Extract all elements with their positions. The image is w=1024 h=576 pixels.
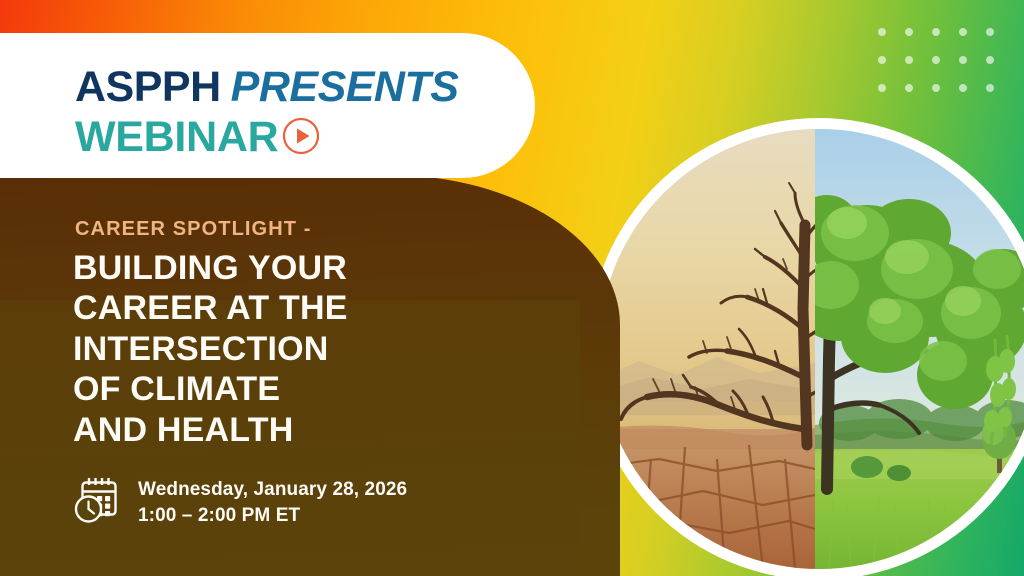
calendar-clock-icon: [70, 474, 122, 531]
title-line: BUILDING YOUR: [73, 248, 503, 288]
play-circle-icon[interactable]: [281, 116, 321, 160]
brand-logo: ASPPHPRESENTS WEBINAR: [75, 66, 458, 160]
photo-ring: [588, 118, 1024, 576]
climate-split-tree-photo: [599, 129, 1024, 569]
dot-grid-icon: [878, 28, 1013, 112]
title-line: OF CLIMATE: [73, 369, 503, 409]
webinar-promo-poster: ASPPHPRESENTS WEBINAR CAREER SPOTLIGHT -…: [0, 0, 1024, 576]
event-time: 1:00 – 2:00 PM ET: [138, 503, 407, 528]
brand-line-2: WEBINAR: [75, 114, 458, 160]
eyebrow-label: CAREER SPOTLIGHT -: [75, 218, 311, 241]
page-title: BUILDING YOUR CAREER AT THE INTERSECTION…: [73, 248, 503, 450]
brand-presents: PRESENTS: [231, 63, 459, 111]
title-line: AND HEALTH: [73, 410, 503, 450]
brand-aspph: ASPPH: [75, 63, 221, 111]
event-datetime: Wednesday, January 28, 2026 1:00 – 2:00 …: [70, 474, 407, 531]
brand-line-1: ASPPHPRESENTS: [75, 66, 458, 109]
event-datetime-text: Wednesday, January 28, 2026 1:00 – 2:00 …: [138, 477, 407, 528]
event-date: Wednesday, January 28, 2026: [138, 477, 407, 502]
brand-webinar: WEBINAR: [75, 116, 278, 159]
title-line: INTERSECTION: [73, 329, 503, 369]
title-line: CAREER AT THE: [73, 288, 503, 328]
